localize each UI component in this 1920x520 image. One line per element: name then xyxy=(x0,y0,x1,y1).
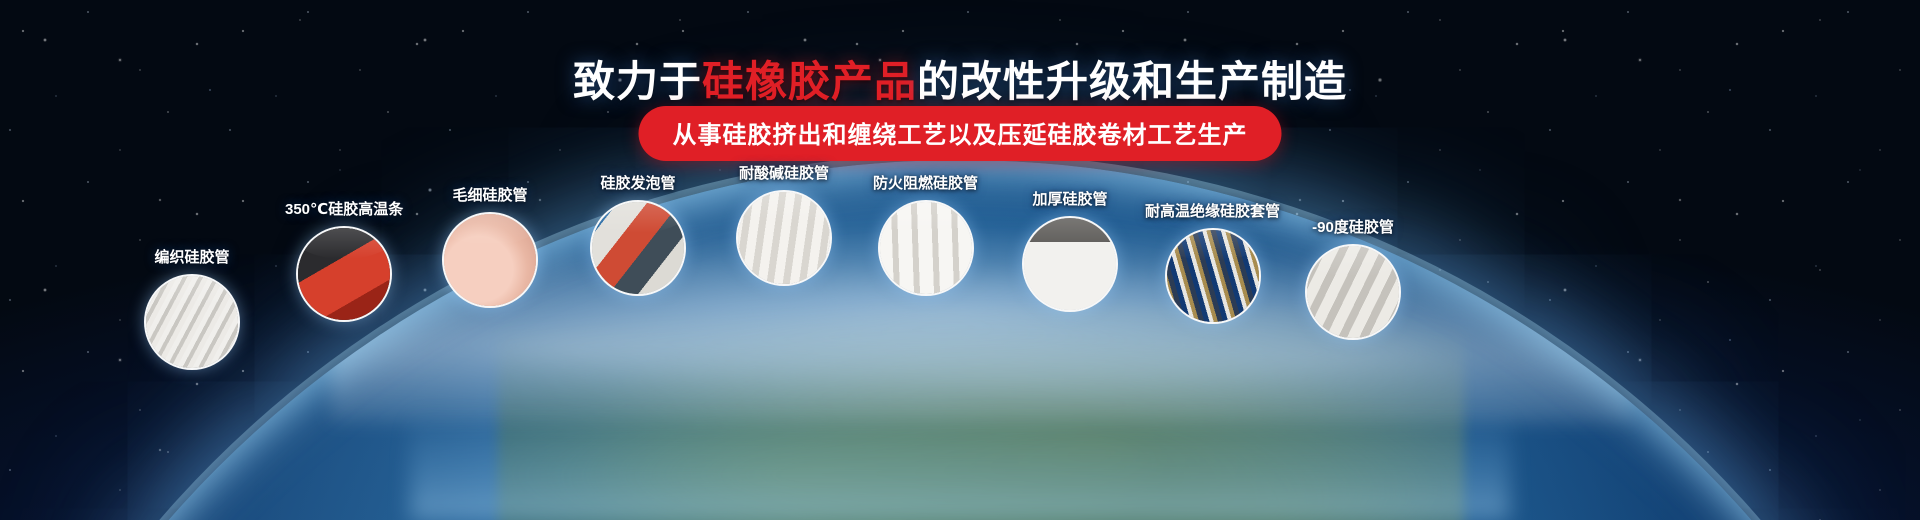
high-temp-silicone-strip-thumb[interactable] xyxy=(296,226,392,322)
minus-90-degree-silicone-tube-thumb[interactable] xyxy=(1305,244,1401,340)
product-label: 防火阻燃硅胶管 xyxy=(873,172,978,193)
thickened-silicone-tube-thumb[interactable] xyxy=(1022,216,1118,312)
product-item-thickened-silicone-tube[interactable]: 加厚硅胶管 xyxy=(1022,188,1118,312)
high-temp-insulating-sleeve-thumb[interactable] xyxy=(1165,228,1261,324)
product-label: 毛细硅胶管 xyxy=(442,184,538,205)
product-label: 耐酸碱硅胶管 xyxy=(736,162,832,183)
braided-silicone-hose-thumb[interactable] xyxy=(144,274,240,370)
capillary-silicone-tube-thumb[interactable] xyxy=(442,212,538,308)
fireproof-flame-retardant-tube-thumb[interactable] xyxy=(878,200,974,296)
silicone-foam-tube-thumb[interactable] xyxy=(590,200,686,296)
product-label: 编织硅胶管 xyxy=(144,246,240,267)
product-item-high-temp-silicone-strip[interactable]: 350℃硅胶高温条 xyxy=(285,198,403,322)
product-label: 耐高温绝缘硅胶套管 xyxy=(1145,200,1280,221)
product-item-braided-silicone-hose[interactable]: 编织硅胶管 xyxy=(144,246,240,370)
product-item-capillary-silicone-tube[interactable]: 毛细硅胶管 xyxy=(442,184,538,308)
product-label: 加厚硅胶管 xyxy=(1022,188,1118,209)
product-item-high-temp-insulating-sleeve[interactable]: 耐高温绝缘硅胶套管 xyxy=(1145,200,1280,324)
product-label: 350℃硅胶高温条 xyxy=(285,198,403,219)
product-item-silicone-foam-tube[interactable]: 硅胶发泡管 xyxy=(590,172,686,296)
acid-alkali-resistant-tube-thumb[interactable] xyxy=(736,190,832,286)
product-item-acid-alkali-resistant-tube[interactable]: 耐酸碱硅胶管 xyxy=(736,162,832,286)
product-thumbnail-row: 编织硅胶管 350℃硅胶高温条 毛细硅胶管 硅胶发泡管 耐酸碱硅胶管 防火阻燃硅… xyxy=(0,0,1920,520)
product-label: 硅胶发泡管 xyxy=(590,172,686,193)
product-item-fireproof-flame-retardant-tube[interactable]: 防火阻燃硅胶管 xyxy=(873,172,978,296)
hero-banner: 致力于硅橡胶产品的改性升级和生产制造 从事硅胶挤出和缠绕工艺以及压延硅胶卷材工艺… xyxy=(0,0,1920,520)
product-item-minus-90-degree-silicone-tube[interactable]: -90度硅胶管 xyxy=(1305,216,1401,340)
product-label: -90度硅胶管 xyxy=(1305,216,1401,237)
